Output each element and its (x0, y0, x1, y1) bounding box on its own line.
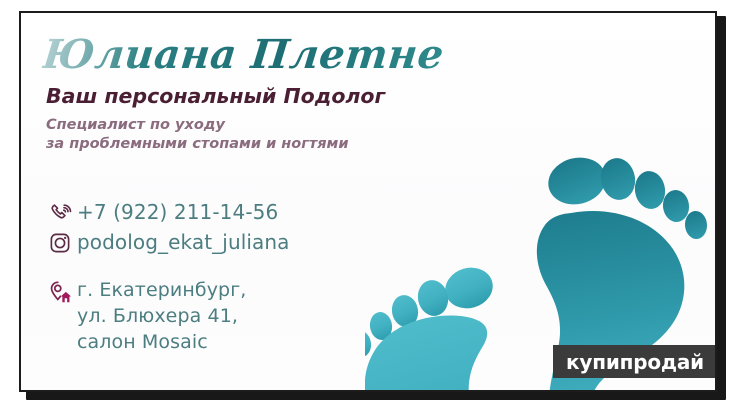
phone-number: +7 (922) 211-14-56 (77, 199, 278, 226)
map-pin-house-icon (43, 277, 77, 305)
address-line-3: салон Mosaic (77, 329, 246, 355)
specialty-line-1: Специалист по уходу (46, 116, 443, 135)
watermark-text: купипродай (566, 352, 704, 372)
address-line-2: ул. Блюхера 41, (77, 303, 246, 329)
instagram-icon (43, 229, 77, 254)
contact-row-phone[interactable]: +7 (922) 211-14-56 (43, 199, 403, 226)
phone-ringing-icon (43, 199, 77, 225)
specialty-line-2: за проблемными стопами и ногтями (46, 135, 443, 154)
business-card: Юлиана Плетнева Ваш персональный Подолог… (19, 11, 717, 392)
card-headline-block: Юлиана Плетнева Ваш персональный Подолог… (43, 31, 443, 154)
address-line-1: г. Екатеринбург, (77, 277, 246, 303)
contact-block: +7 (922) 211-14-56 podolog_ekat_juliana (43, 199, 403, 358)
card-specialty: Специалист по уходу за проблемными стопа… (46, 116, 443, 154)
contact-row-address[interactable]: г. Екатеринбург, ул. Блюхера 41, салон M… (43, 277, 403, 355)
contact-row-instagram[interactable]: podolog_ekat_juliana (43, 229, 403, 256)
card-tagline: Ваш персональный Подолог (46, 83, 443, 109)
address-lines: г. Екатеринбург, ул. Блюхера 41, салон M… (77, 277, 246, 355)
business-card-screenshot: Юлиана Плетнева Ваш персональный Подолог… (0, 0, 735, 409)
watermark-badge: купипродай (553, 345, 715, 378)
instagram-handle: podolog_ekat_juliana (77, 229, 290, 256)
practitioner-name: Юлиана Плетнева (40, 31, 445, 79)
